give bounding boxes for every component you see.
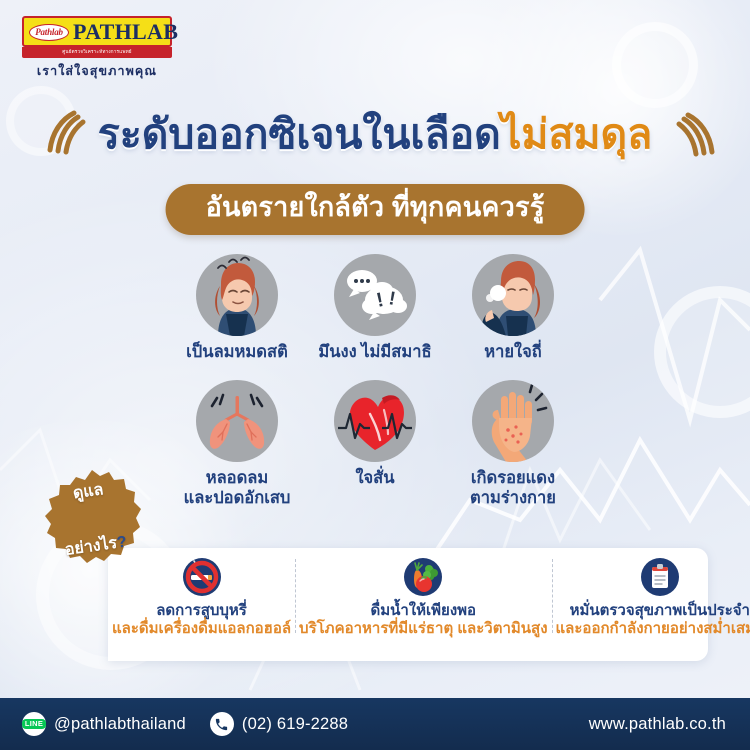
- symptom-label: หลอดลม และปอดอักเสบ: [184, 469, 291, 508]
- symptom-item[interactable]: เกิดรอยแดง ตามร่างกาย: [448, 380, 578, 508]
- symptom-grid: เป็นลมหมดสติ: [172, 254, 578, 508]
- confusion-thought-bubble-icon: ! !: [334, 254, 416, 336]
- tip-line1: ดื่มน้ำให้เพียงพอ: [371, 602, 477, 620]
- bubble-decoration: [654, 286, 750, 418]
- tip-item[interactable]: หมั่นตรวจสุขภาพเป็นประจำ และออกกำลังกายอ…: [552, 557, 750, 639]
- phone-glyph: [214, 717, 229, 732]
- logo-oval-mark: Pathlab: [29, 24, 69, 41]
- palpitating-heart-icon: [334, 380, 416, 462]
- shortness-of-breath-woman-icon: [472, 254, 554, 336]
- line-handle-text: @pathlabthailand: [54, 715, 186, 734]
- tip-line2: และดื่มเครื่องดื่มแอลกอฮอล์: [112, 620, 291, 639]
- vegetables-icon: [403, 557, 443, 597]
- care-badge-line2: อย่างไร: [64, 535, 118, 559]
- tip-line2: และออกกำลังกายอย่างสม่ำเสมอ: [556, 620, 750, 639]
- headline-main: ระดับออกซิเจนในเลือด: [98, 111, 501, 157]
- tip-item[interactable]: ดื่มน้ำให้เพียงพอ บริโภคอาหารที่มีแร่ธาต…: [295, 557, 551, 639]
- symptom-icon-circle: [196, 254, 278, 336]
- page-title: ระดับออกซิเจนในเลือดไม่สมดุล: [0, 112, 750, 158]
- care-badge: ดูแล อย่างไร?: [40, 468, 144, 572]
- symptom-item[interactable]: ! ! มึนงง ไม่มีสมาธิ: [310, 254, 440, 362]
- bubble-decoration: [612, 22, 698, 108]
- care-badge-question-mark: ?: [116, 534, 128, 552]
- phone-number-text: (02) 619-2288: [242, 715, 348, 734]
- tip-line1: ลดการสูบบุหรี่: [156, 602, 247, 620]
- tips-card: ลดการสูบบุหรี่ และดื่มเครื่องดื่มแอลกอฮอ…: [108, 548, 708, 661]
- symptom-label: หายใจถี่: [484, 343, 542, 362]
- phone-contact[interactable]: (02) 619-2288: [210, 712, 348, 736]
- lungs-inflammation-icon: [196, 380, 278, 462]
- subtitle-banner: อันตรายใกล้ตัว ที่ทุกคนควรรู้: [166, 184, 585, 235]
- symptom-icon-circle: [472, 380, 554, 462]
- symptom-item[interactable]: หลอดลม และปอดอักเสบ: [172, 380, 302, 508]
- logo-oval-text: Pathlab: [35, 27, 63, 37]
- checkup-clipboard-icon: [640, 557, 680, 597]
- fainting-woman-icon: [196, 254, 278, 336]
- logo-red-bar-text: ศูนย์ตรวจวิเคราะห์ทางการแพทย์: [62, 49, 131, 56]
- logo-box: Pathlab PATHLAB: [22, 16, 172, 47]
- footer-contact-group: LINE @pathlabthailand (02) 619-2288: [0, 712, 348, 736]
- pathlab-logo[interactable]: Pathlab PATHLAB ศูนย์ตรวจวิเคราะห์ทางการ…: [22, 16, 172, 81]
- symptom-label: เป็นลมหมดสติ: [186, 343, 288, 362]
- tip-line2: บริโภคอาหารที่มีแร่ธาตุ และวิตามินสูง: [299, 620, 547, 639]
- no-smoking-icon: [182, 557, 222, 597]
- website-link[interactable]: www.pathlab.co.th: [589, 715, 750, 734]
- symptom-item[interactable]: ใจสั่น: [310, 380, 440, 508]
- symptom-icon-circle: [196, 380, 278, 462]
- footer-bar: LINE @pathlabthailand (02) 619-2288 www.…: [0, 698, 750, 750]
- symptom-label: ใจสั่น: [355, 469, 394, 488]
- symptom-label: เกิดรอยแดง ตามร่างกาย: [470, 469, 556, 508]
- infographic-poster: Pathlab PATHLAB ศูนย์ตรวจวิเคราะห์ทางการ…: [0, 0, 750, 750]
- line-badge-label: LINE: [22, 719, 46, 729]
- line-contact[interactable]: LINE @pathlabthailand: [22, 712, 186, 736]
- symptom-icon-circle: ! !: [334, 254, 416, 336]
- phone-icon: [210, 712, 234, 736]
- symptom-icon-circle: [472, 254, 554, 336]
- care-badge-line2-wrap: อย่างไร?: [61, 516, 128, 561]
- tip-line1: หมั่นตรวจสุขภาพเป็นประจำ: [570, 602, 750, 620]
- subtitle-text: อันตรายใกล้ตัว ที่ทุกคนควรรู้: [206, 192, 545, 222]
- red-rash-hand-icon: [472, 380, 554, 462]
- headline-accent: ไม่สมดุล: [501, 111, 652, 157]
- logo-tagline: เราใส่ใจสุขภาพคุณ: [22, 61, 172, 81]
- line-app-icon: LINE: [22, 712, 46, 736]
- symptom-icon-circle: [334, 380, 416, 462]
- symptom-item[interactable]: หายใจถี่: [448, 254, 578, 362]
- logo-wordmark: PATHLAB: [73, 21, 178, 43]
- symptom-label: มึนงง ไม่มีสมาธิ: [318, 343, 431, 362]
- symptom-item[interactable]: เป็นลมหมดสติ: [172, 254, 302, 362]
- logo-red-bar: ศูนย์ตรวจวิเคราะห์ทางการแพทย์: [22, 47, 172, 58]
- care-badge-line1: ดูแล: [56, 479, 120, 506]
